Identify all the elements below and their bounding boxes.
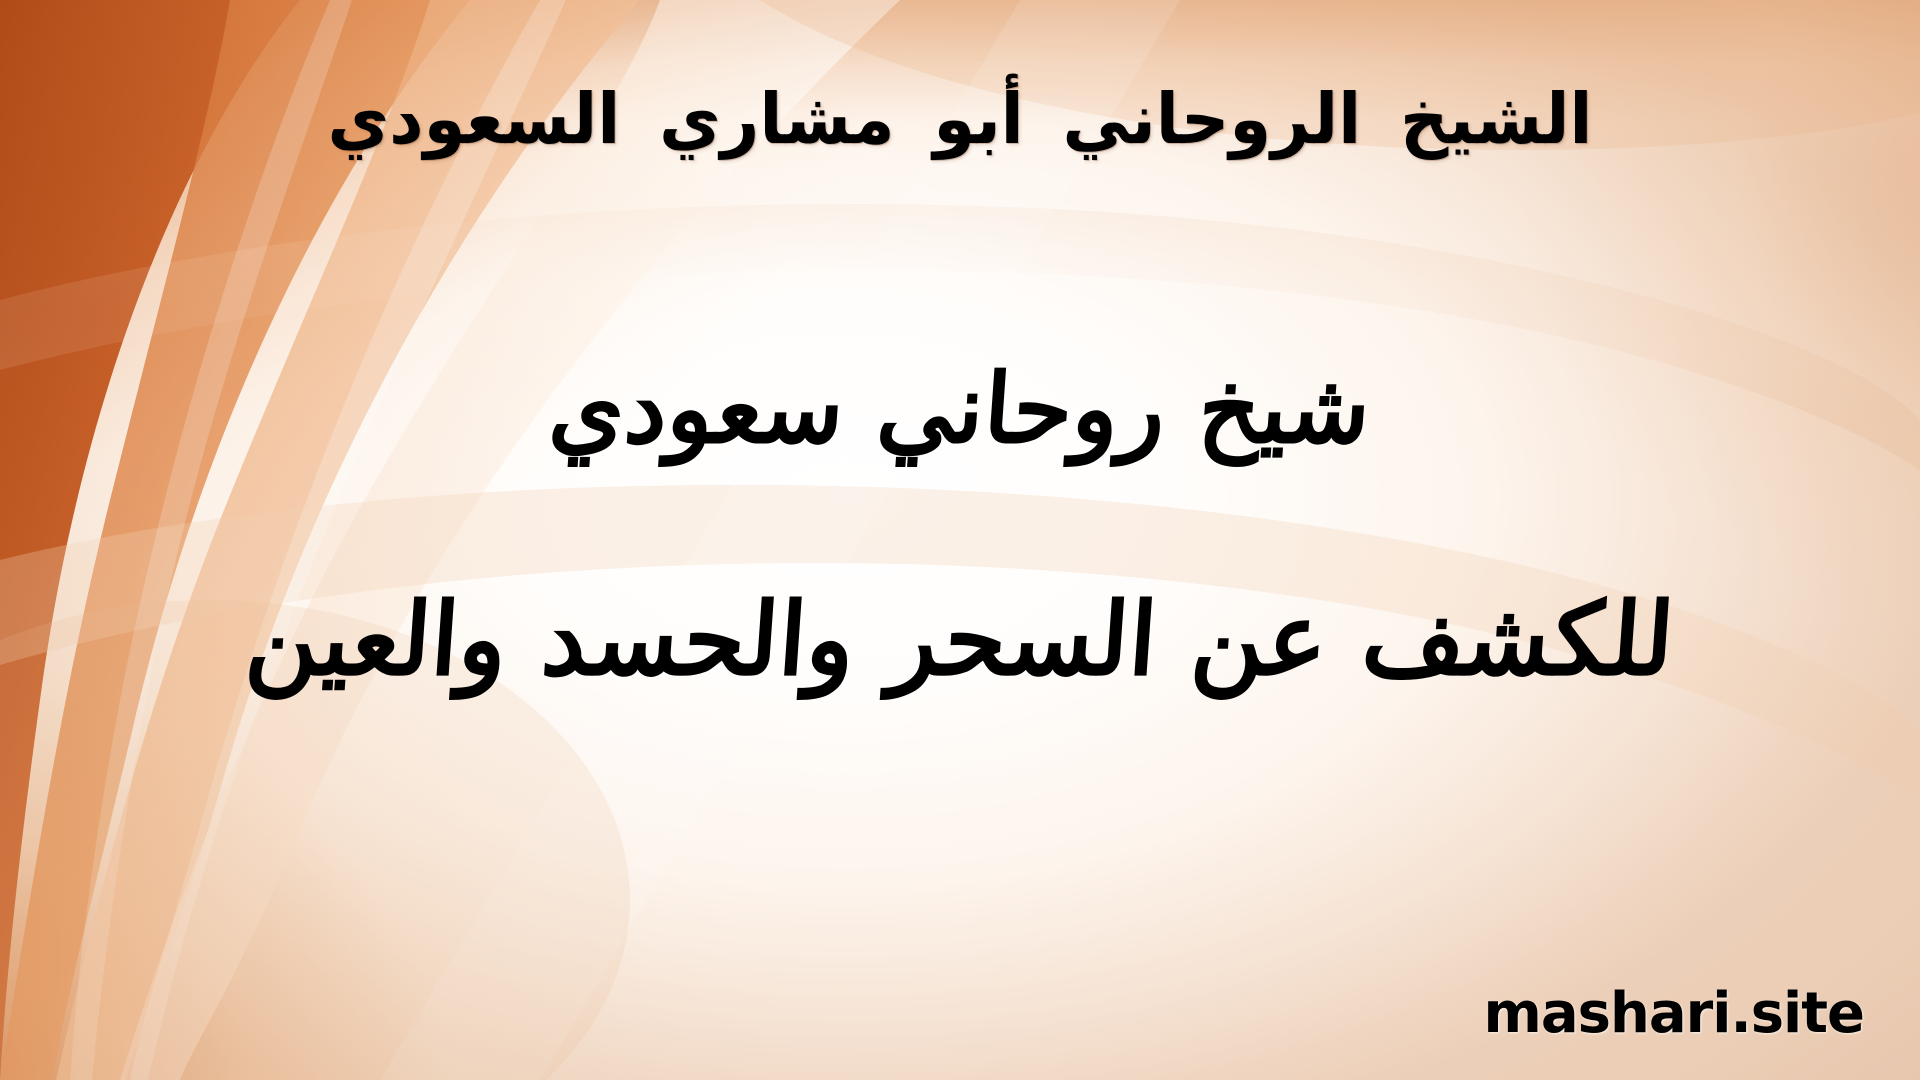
- subheading-spiritual-sheikh: شيخ روحاني سعودي: [0, 352, 1920, 465]
- banner-canvas: الشيخ الروحاني أبو مشاري السعودي شيخ روح…: [0, 0, 1920, 1080]
- site-watermark: mashari.site: [1484, 981, 1865, 1046]
- tagline-services: للكشف عن السحر والحسد والعين: [0, 580, 1920, 698]
- text-layer: الشيخ الروحاني أبو مشاري السعودي شيخ روح…: [0, 0, 1920, 1080]
- headline-sheikh-name: الشيخ الروحاني أبو مشاري السعودي: [38, 78, 1881, 160]
